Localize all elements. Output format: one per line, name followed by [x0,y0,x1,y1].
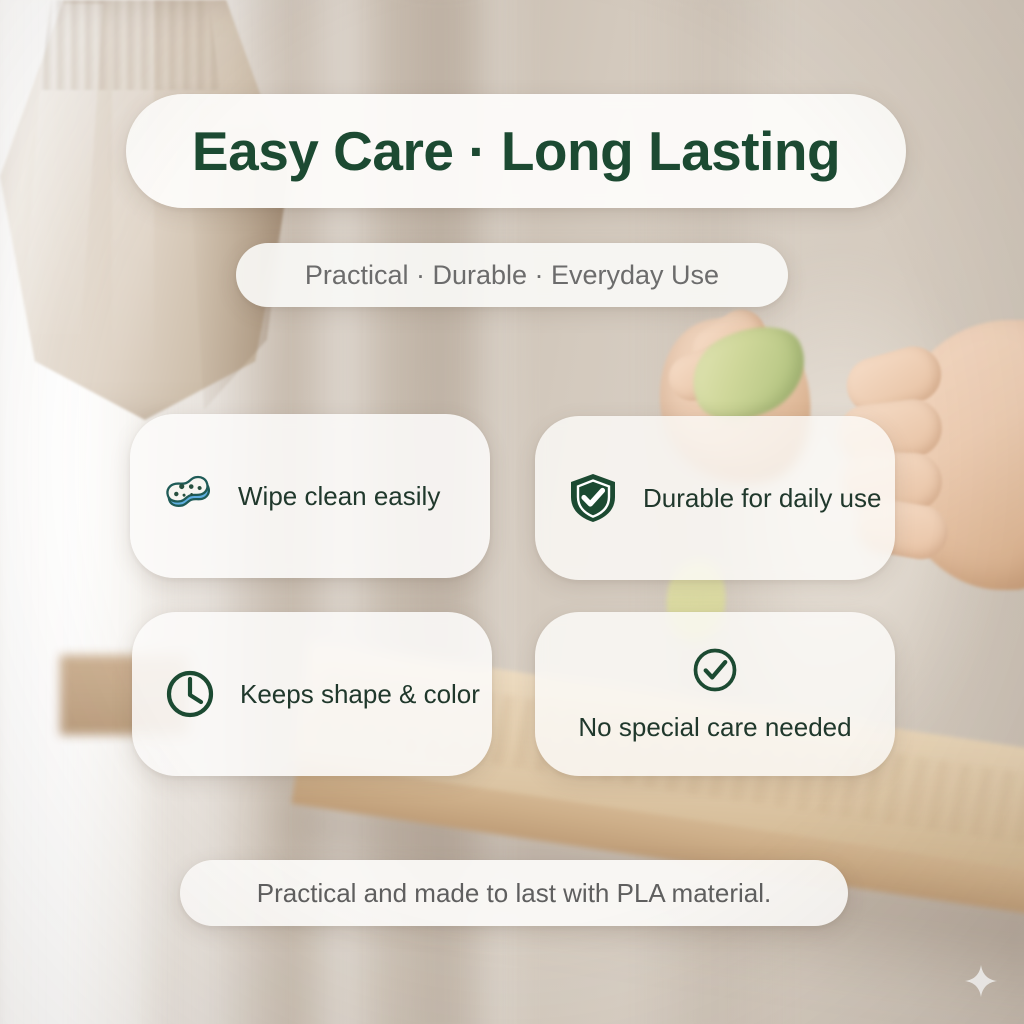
caption-pill: Practical and made to last with PLA mate… [180,860,848,926]
shield-check-icon [565,470,621,526]
clock-icon [162,666,218,722]
subtitle-pill: Practical · Durable · Everyday Use [236,243,788,307]
vase-ridges [40,0,220,90]
feature-label: Keeps shape & color [240,679,480,710]
feature-card-durable[interactable]: Durable for daily use [535,416,895,580]
feature-label: No special care needed [578,712,851,743]
check-circle-icon [687,642,743,698]
feature-card-wipe-clean[interactable]: Wipe clean easily [130,414,490,578]
page-title: Easy Care · Long Lasting [192,119,840,183]
feature-card-keeps-shape[interactable]: Keeps shape & color [132,612,492,776]
sparkle-icon [964,964,998,998]
footer-caption: Practical and made to last with PLA mate… [257,878,771,909]
page-subtitle: Practical · Durable · Everyday Use [305,260,719,291]
infographic-canvas: Easy Care · Long Lasting Practical · Dur… [0,0,1024,1024]
feature-label: Durable for daily use [643,483,881,514]
sponge-icon [160,468,216,524]
ceramic-vase [0,0,290,420]
feature-card-no-special-care[interactable]: No special care needed [535,612,895,776]
feature-label: Wipe clean easily [238,481,440,512]
title-pill: Easy Care · Long Lasting [126,94,906,208]
